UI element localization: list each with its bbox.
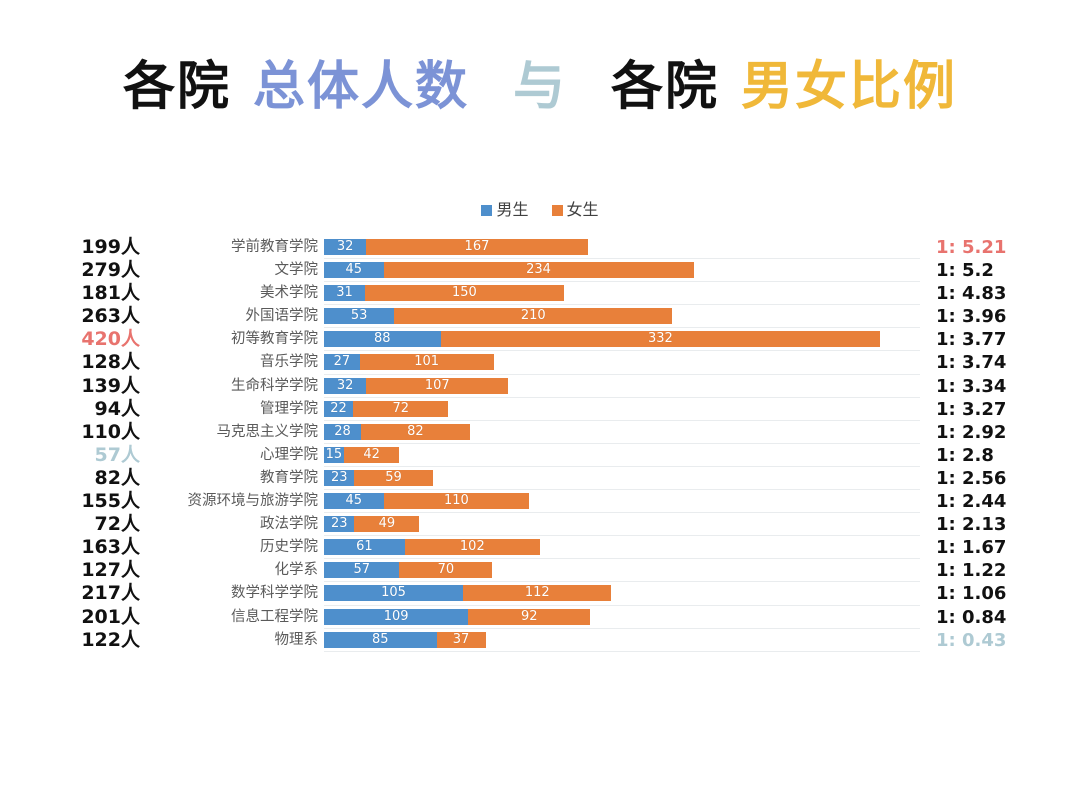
bar-value-male: 15: [324, 447, 344, 463]
bar-value-female: 107: [366, 378, 508, 394]
row-category-label: 学前教育学院: [146, 236, 318, 259]
row-bar-group[interactable]: 27101: [324, 354, 494, 370]
row-plot-area: 2349: [324, 513, 920, 536]
bar-segment-female[interactable]: 110: [384, 493, 530, 509]
bar-value-male: 27: [324, 354, 360, 370]
row-category-label: 教育学院: [146, 467, 318, 490]
row-bar-group[interactable]: 45234: [324, 262, 694, 278]
row-category-label: 美术学院: [146, 282, 318, 305]
row-plot-area: 31150: [324, 282, 920, 305]
gridline: [324, 651, 920, 652]
chart-row: 139人生命科学学院321071: 3.34: [0, 375, 1080, 398]
bar-segment-female[interactable]: 150: [365, 285, 564, 301]
row-total-label: 279人: [0, 259, 140, 282]
bar-value-female: 101: [360, 354, 494, 370]
row-plot-area: 5770: [324, 559, 920, 582]
bar-segment-male[interactable]: 22: [324, 401, 353, 417]
bar-value-female: 82: [361, 424, 470, 440]
bar-value-male: 23: [324, 470, 354, 486]
row-plot-area: 27101: [324, 351, 920, 374]
chart-row: 263人外国语学院532101: 3.96: [0, 305, 1080, 328]
bar-segment-male[interactable]: 31: [324, 285, 365, 301]
bar-value-male: 45: [324, 262, 384, 278]
bar-value-male: 23: [324, 516, 354, 532]
bar-segment-male[interactable]: 23: [324, 470, 354, 486]
bar-value-male: 85: [324, 632, 437, 648]
bar-segment-female[interactable]: 70: [399, 562, 492, 578]
bar-value-female: 110: [384, 493, 530, 509]
row-bar-group[interactable]: 88332: [324, 331, 880, 347]
row-total-label: 128人: [0, 351, 140, 374]
chart-row: 155人资源环境与旅游学院451101: 2.44: [0, 490, 1080, 513]
bar-value-male: 105: [324, 585, 463, 601]
bar-value-female: 59: [354, 470, 432, 486]
bar-segment-male[interactable]: 15: [324, 447, 344, 463]
row-category-label: 生命科学学院: [146, 375, 318, 398]
row-plot-area: 53210: [324, 305, 920, 328]
row-ratio-label: 1: 1.06: [936, 582, 1062, 605]
chart-row: 181人美术学院311501: 4.83: [0, 282, 1080, 305]
chart-row: 199人学前教育学院321671: 5.21: [0, 236, 1080, 259]
bar-value-male: 57: [324, 562, 399, 578]
row-plot-area: 45234: [324, 259, 920, 282]
bar-value-male: 53: [324, 308, 394, 324]
legend-label-female: 女生: [567, 200, 599, 219]
row-bar-group[interactable]: 5770: [324, 562, 492, 578]
bar-value-male: 45: [324, 493, 384, 509]
bar-segment-male[interactable]: 61: [324, 539, 405, 555]
row-ratio-label: 1: 4.83: [936, 282, 1062, 305]
row-total-label: 94人: [0, 398, 140, 421]
bar-segment-male[interactable]: 57: [324, 562, 399, 578]
bar-value-female: 37: [437, 632, 486, 648]
bar-segment-female[interactable]: 49: [354, 516, 419, 532]
row-plot-area: 2882: [324, 421, 920, 444]
row-ratio-label: 1: 3.27: [936, 398, 1062, 421]
row-bar-group[interactable]: 2349: [324, 516, 419, 532]
row-plot-area: 32167: [324, 236, 920, 259]
row-ratio-label: 1: 0.84: [936, 606, 1062, 629]
title-part-2: 总体人数: [253, 44, 469, 119]
title-part-5: 男女比例: [741, 44, 957, 119]
row-bar-group[interactable]: 31150: [324, 285, 564, 301]
bar-value-female: 72: [353, 401, 448, 417]
row-bar-group[interactable]: 2359: [324, 470, 433, 486]
chart-row: 57人心理学院15421: 2.8: [0, 444, 1080, 467]
row-plot-area: 2359: [324, 467, 920, 490]
row-total-label: 72人: [0, 513, 140, 536]
bar-segment-female[interactable]: 112: [463, 585, 611, 601]
bar-segment-male[interactable]: 27: [324, 354, 360, 370]
row-category-label: 马克思主义学院: [146, 421, 318, 444]
row-bar-group[interactable]: 53210: [324, 308, 672, 324]
row-category-label: 化学系: [146, 559, 318, 582]
row-plot-area: 32107: [324, 375, 920, 398]
bar-segment-female[interactable]: 210: [394, 308, 672, 324]
row-ratio-label: 1: 3.34: [936, 375, 1062, 398]
bar-segment-female[interactable]: 59: [354, 470, 432, 486]
row-plot-area: 105112: [324, 582, 920, 605]
row-ratio-label: 1: 2.44: [936, 490, 1062, 513]
row-total-label: 420人: [0, 328, 140, 351]
bar-segment-male[interactable]: 32: [324, 378, 366, 394]
row-category-label: 历史学院: [146, 536, 318, 559]
row-plot-area: 61102: [324, 536, 920, 559]
legend-swatch-female: [552, 205, 563, 216]
bar-value-female: 42: [344, 447, 400, 463]
row-category-label: 物理系: [146, 629, 318, 652]
bar-segment-female[interactable]: 72: [353, 401, 448, 417]
row-bar-group[interactable]: 32167: [324, 239, 588, 255]
row-ratio-label: 1: 5.2: [936, 259, 1062, 282]
bar-value-male: 32: [324, 239, 366, 255]
chart-legend: 男生 女生: [0, 196, 1080, 220]
bar-segment-female[interactable]: 82: [361, 424, 470, 440]
row-bar-group[interactable]: 61102: [324, 539, 540, 555]
bar-value-male: 61: [324, 539, 405, 555]
row-category-label: 初等教育学院: [146, 328, 318, 351]
bar-value-female: 150: [365, 285, 564, 301]
bar-value-female: 210: [394, 308, 672, 324]
bar-segment-male[interactable]: 28: [324, 424, 361, 440]
row-bar-group[interactable]: 1542: [324, 447, 399, 463]
row-bar-group[interactable]: 105112: [324, 585, 611, 601]
bar-value-male: 22: [324, 401, 353, 417]
chart-row: 420人初等教育学院883321: 3.77: [0, 328, 1080, 351]
title-part-1: 各院: [123, 44, 231, 119]
row-category-label: 资源环境与旅游学院: [146, 490, 318, 513]
bar-value-male: 88: [324, 331, 441, 347]
row-ratio-label: 1: 2.8: [936, 444, 1062, 467]
row-plot-area: 88332: [324, 328, 920, 351]
row-bar-group[interactable]: 32107: [324, 378, 508, 394]
row-total-label: 217人: [0, 582, 140, 605]
bar-value-male: 32: [324, 378, 366, 394]
bar-value-female: 112: [463, 585, 611, 601]
bar-value-male: 31: [324, 285, 365, 301]
row-total-label: 82人: [0, 467, 140, 490]
row-total-label: 139人: [0, 375, 140, 398]
bar-segment-male[interactable]: 85: [324, 632, 437, 648]
row-category-label: 外国语学院: [146, 305, 318, 328]
bar-segment-female[interactable]: 332: [441, 331, 881, 347]
bar-segment-male[interactable]: 109: [324, 609, 468, 625]
bar-value-female: 70: [399, 562, 492, 578]
row-plot-area: 2272: [324, 398, 920, 421]
row-ratio-label: 1: 3.77: [936, 328, 1062, 351]
row-total-label: 201人: [0, 606, 140, 629]
row-bar-group[interactable]: 8537: [324, 632, 486, 648]
row-ratio-label: 1: 5.21: [936, 236, 1062, 259]
bar-segment-female[interactable]: 42: [344, 447, 400, 463]
chart-row: 279人文学院452341: 5.2: [0, 259, 1080, 282]
row-total-label: 199人: [0, 236, 140, 259]
row-total-label: 110人: [0, 421, 140, 444]
bar-segment-male[interactable]: 45: [324, 493, 384, 509]
bar-segment-male[interactable]: 105: [324, 585, 463, 601]
chart-row: 201人信息工程学院109921: 0.84: [0, 606, 1080, 629]
row-category-label: 政法学院: [146, 513, 318, 536]
chart-row: 128人音乐学院271011: 3.74: [0, 351, 1080, 374]
chart-row: 122人物理系85371: 0.43: [0, 629, 1080, 652]
chart-row: 127人化学系57701: 1.22: [0, 559, 1080, 582]
row-total-label: 127人: [0, 559, 140, 582]
row-category-label: 信息工程学院: [146, 606, 318, 629]
row-bar-group[interactable]: 2272: [324, 401, 448, 417]
row-total-label: 122人: [0, 629, 140, 652]
bar-segment-male[interactable]: 53: [324, 308, 394, 324]
title-part-3: 与: [513, 44, 567, 119]
row-category-label: 文学院: [146, 259, 318, 282]
row-ratio-label: 1: 2.92: [936, 421, 1062, 444]
chart-row: 82人教育学院23591: 2.56: [0, 467, 1080, 490]
row-total-label: 155人: [0, 490, 140, 513]
bar-value-female: 102: [405, 539, 540, 555]
bar-value-female: 332: [441, 331, 881, 347]
row-ratio-label: 1: 1.22: [936, 559, 1062, 582]
bar-segment-female[interactable]: 234: [384, 262, 694, 278]
bar-segment-female[interactable]: 37: [437, 632, 486, 648]
title-part-4: 各院: [611, 44, 719, 119]
legend-item-female[interactable]: 女生: [552, 196, 599, 220]
stacked-bar-chart: 199人学前教育学院321671: 5.21279人文学院452341: 5.2…: [0, 236, 1080, 656]
bar-value-male: 28: [324, 424, 361, 440]
bar-segment-female[interactable]: 92: [468, 609, 590, 625]
bar-segment-female[interactable]: 107: [366, 378, 508, 394]
row-bar-group[interactable]: 45110: [324, 493, 529, 509]
row-plot-area: 1542: [324, 444, 920, 467]
chart-row: 163人历史学院611021: 1.67: [0, 536, 1080, 559]
row-total-label: 181人: [0, 282, 140, 305]
row-ratio-label: 1: 2.56: [936, 467, 1062, 490]
bar-segment-female[interactable]: 167: [366, 239, 587, 255]
row-bar-group[interactable]: 10992: [324, 609, 590, 625]
bar-value-female: 167: [366, 239, 587, 255]
legend-label-male: 男生: [496, 200, 528, 219]
bar-value-male: 109: [324, 609, 468, 625]
row-category-label: 数学科学学院: [146, 582, 318, 605]
row-ratio-label: 1: 3.96: [936, 305, 1062, 328]
chart-row: 72人政法学院23491: 2.13: [0, 513, 1080, 536]
row-category-label: 音乐学院: [146, 351, 318, 374]
row-total-label: 163人: [0, 536, 140, 559]
row-plot-area: 45110: [324, 490, 920, 513]
bar-segment-male[interactable]: 45: [324, 262, 384, 278]
row-ratio-label: 1: 0.43: [936, 629, 1062, 652]
row-ratio-label: 1: 1.67: [936, 536, 1062, 559]
row-plot-area: 8537: [324, 629, 920, 652]
row-bar-group[interactable]: 2882: [324, 424, 470, 440]
bar-segment-male[interactable]: 88: [324, 331, 441, 347]
bar-segment-male[interactable]: 23: [324, 516, 354, 532]
row-total-label: 57人: [0, 444, 140, 467]
row-category-label: 心理学院: [146, 444, 318, 467]
bar-value-female: 49: [354, 516, 419, 532]
legend-item-male[interactable]: 男生: [481, 196, 528, 220]
chart-row: 94人管理学院22721: 3.27: [0, 398, 1080, 421]
row-category-label: 管理学院: [146, 398, 318, 421]
page-title: 各院总体人数与各院男女比例: [0, 44, 1080, 119]
row-ratio-label: 1: 2.13: [936, 513, 1062, 536]
bar-value-female: 234: [384, 262, 694, 278]
bar-segment-male[interactable]: 32: [324, 239, 366, 255]
bar-value-female: 92: [468, 609, 590, 625]
row-total-label: 263人: [0, 305, 140, 328]
chart-row: 110人马克思主义学院28821: 2.92: [0, 421, 1080, 444]
bar-segment-female[interactable]: 102: [405, 539, 540, 555]
row-plot-area: 10992: [324, 606, 920, 629]
legend-swatch-male: [481, 205, 492, 216]
chart-row: 217人数学科学学院1051121: 1.06: [0, 582, 1080, 605]
row-ratio-label: 1: 3.74: [936, 351, 1062, 374]
bar-segment-female[interactable]: 101: [360, 354, 494, 370]
